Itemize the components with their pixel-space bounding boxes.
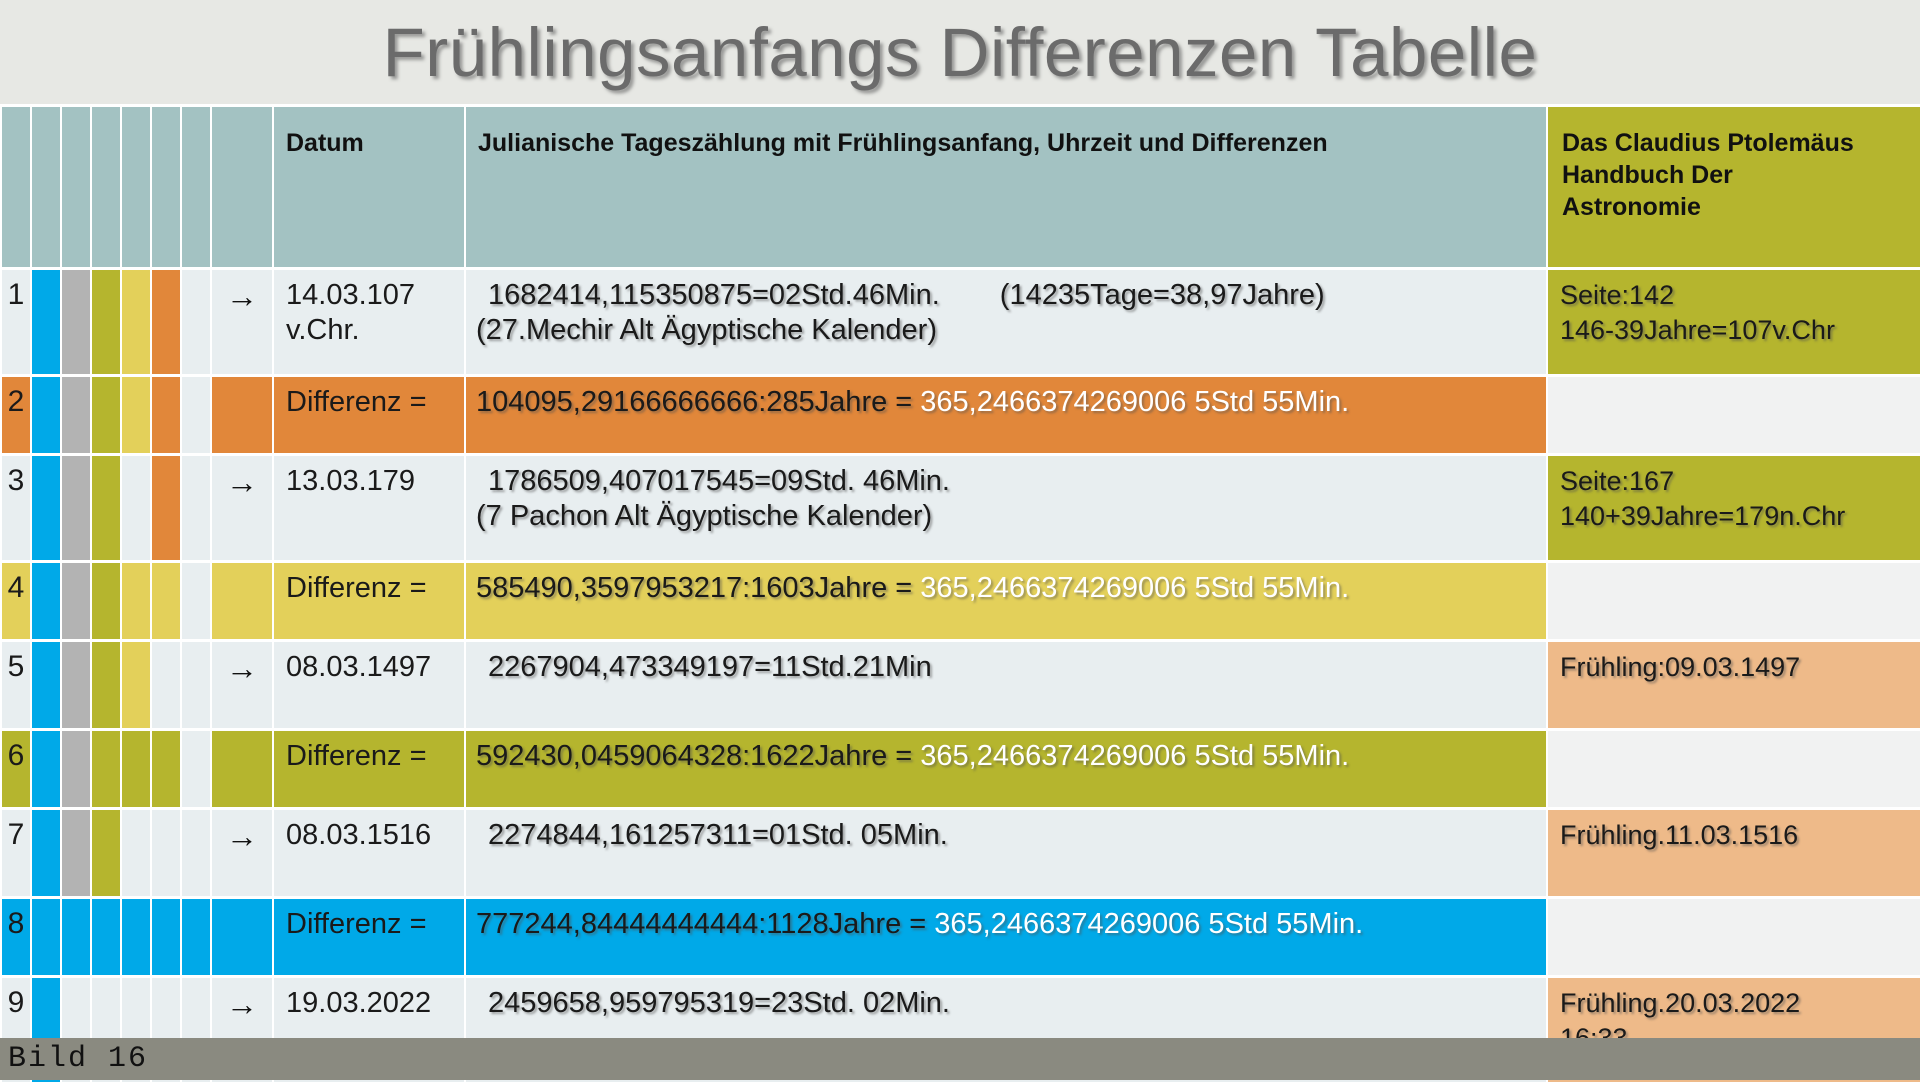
color-swatch-1: [32, 456, 60, 560]
color-swatch-5: [152, 270, 180, 374]
julian-line-1: 2459658,959795319=23Std. 02Min.: [476, 986, 1546, 1021]
table-row[interactable]: 7→08.03.15162274844,161257311=01Std. 05M…: [2, 810, 1920, 896]
color-swatch-2: [62, 810, 90, 896]
row-arrow-icon: [212, 899, 272, 975]
julian-day-number: 1786509,407017545=09Std. 46Min.: [476, 465, 950, 497]
datum-line-2: v.Chr.: [286, 313, 464, 348]
color-swatch-3: [92, 899, 120, 975]
header-main-label: Julianische Tageszählung mit Frühlingsan…: [466, 107, 1546, 159]
julian-line-1: 1682414,115350875=02Std.46Min.(14235Tage…: [476, 278, 1546, 313]
color-swatch-6: [182, 642, 210, 728]
difference-dividend: 104095,29166666666:285Jahre =: [476, 386, 912, 418]
table-row[interactable]: 5→08.03.14972267904,473349197=11Std.21Mi…: [2, 642, 1920, 728]
color-swatch-3: [92, 731, 120, 807]
row-reference: [1548, 377, 1920, 453]
difference-result: 365,2466374269006 5Std 55Min.: [920, 386, 1349, 418]
row-index: 3: [2, 456, 30, 560]
row-main: 2274844,161257311=01Std. 05Min.: [466, 810, 1546, 896]
difference-expression: 592430,0459064328:1622Jahre = 365,246637…: [476, 739, 1546, 774]
difference-expression: 585490,3597953217:1603Jahre = 365,246637…: [476, 571, 1546, 606]
row-main: 592430,0459064328:1622Jahre = 365,246637…: [466, 731, 1546, 807]
color-swatch-1: [32, 377, 60, 453]
datum-line-1: 08.03.1497: [286, 650, 464, 685]
color-swatch-2: [62, 270, 90, 374]
color-swatch-3: [92, 270, 120, 374]
julian-line-2: (27.Mechir Alt Ägyptische Kalender): [476, 313, 1546, 348]
color-swatch-5: [152, 731, 180, 807]
datum-line-1: Differenz =: [286, 739, 464, 774]
color-swatch-1: [32, 899, 60, 975]
row-arrow-icon: →: [212, 642, 272, 728]
color-swatch-6: [182, 810, 210, 896]
color-swatch-4: [122, 899, 150, 975]
color-swatch-4: [122, 270, 150, 374]
color-swatch-3: [92, 377, 120, 453]
julian-day-number: 1682414,115350875=02Std.46Min.: [476, 279, 940, 311]
table-row[interactable]: 8Differenz =777244,84444444444:1128Jahre…: [2, 899, 1920, 975]
row-arrow-icon: →: [212, 810, 272, 896]
color-swatch-2: [62, 899, 90, 975]
color-swatch-3: [92, 563, 120, 639]
row-main: 1682414,115350875=02Std.46Min.(14235Tage…: [466, 270, 1546, 374]
color-swatch-6: [182, 456, 210, 560]
difference-expression: 777244,84444444444:1128Jahre = 365,24663…: [476, 907, 1546, 942]
row-datum: 08.03.1516: [274, 810, 464, 896]
header-main: Julianische Tageszählung mit Frühlingsan…: [466, 107, 1546, 267]
header-swatch-cell-3: [92, 107, 120, 267]
row-arrow-icon: [212, 731, 272, 807]
julian-line-1: 2267904,473349197=11Std.21Min: [476, 650, 1546, 685]
row-arrow-icon: [212, 377, 272, 453]
row-reference: Frühling:09.03.1497: [1548, 642, 1920, 728]
difference-dividend: 585490,3597953217:1603Jahre =: [476, 572, 912, 604]
color-swatch-5: [152, 810, 180, 896]
datum-line-1: 19.03.2022: [286, 986, 464, 1021]
row-main: 585490,3597953217:1603Jahre = 365,246637…: [466, 563, 1546, 639]
table-row[interactable]: 4Differenz =585490,3597953217:1603Jahre …: [2, 563, 1920, 639]
color-swatch-5: [152, 563, 180, 639]
julian-line-1: 1786509,407017545=09Std. 46Min.: [476, 464, 1546, 499]
color-swatch-1: [32, 563, 60, 639]
datum-line-1: Differenz =: [286, 907, 464, 942]
color-swatch-6: [182, 377, 210, 453]
julian-line-1: 2274844,161257311=01Std. 05Min.: [476, 818, 1546, 853]
difference-result: 365,2466374269006 5Std 55Min.: [934, 908, 1363, 940]
difference-result: 365,2466374269006 5Std 55Min.: [920, 572, 1349, 604]
caption-bar: Bild 16: [0, 1038, 1920, 1080]
table-row[interactable]: 3→13.03.1791786509,407017545=09Std. 46Mi…: [2, 456, 1920, 560]
header-datum-label: Datum: [274, 107, 464, 159]
color-swatch-6: [182, 899, 210, 975]
datum-line-1: Differenz =: [286, 385, 464, 420]
row-index: 6: [2, 731, 30, 807]
header-row: Datum Julianische Tageszählung mit Frühl…: [2, 107, 1920, 267]
row-datum: Differenz =: [274, 377, 464, 453]
row-reference: [1548, 731, 1920, 807]
color-swatch-3: [92, 456, 120, 560]
header-datum: Datum: [274, 107, 464, 267]
reference-line-1: Frühling.11.03.1516: [1560, 818, 1920, 853]
row-datum: Differenz =: [274, 731, 464, 807]
julian-day-number: 2267904,473349197=11Std.21Min: [476, 651, 932, 683]
color-swatch-4: [122, 642, 150, 728]
header-arrow-cell: [212, 107, 272, 267]
row-main: 777244,84444444444:1128Jahre = 365,24663…: [466, 899, 1546, 975]
header-swatch-cell-1: [32, 107, 60, 267]
row-reference: [1548, 899, 1920, 975]
row-reference: [1548, 563, 1920, 639]
julian-span-note: (14235Tage=38,97Jahre): [1000, 279, 1325, 311]
difference-dividend: 592430,0459064328:1622Jahre =: [476, 740, 912, 772]
reference-line-1: Seite:142: [1560, 278, 1920, 313]
header-right-label: Das Claudius Ptolemäus Handbuch Der Astr…: [1548, 107, 1920, 223]
reference-line-1: Frühling.20.03.2022: [1560, 986, 1920, 1021]
header-swatch-cell-6: [182, 107, 210, 267]
difference-expression: 104095,29166666666:285Jahre = 365,246637…: [476, 385, 1546, 420]
title-bar: Frühlingsanfangs Differenzen Tabelle: [0, 0, 1920, 104]
datum-line-1: Differenz =: [286, 571, 464, 606]
color-swatch-2: [62, 563, 90, 639]
differences-table: Datum Julianische Tageszählung mit Frühl…: [0, 104, 1920, 1085]
color-swatch-4: [122, 377, 150, 453]
row-index: 8: [2, 899, 30, 975]
row-arrow-icon: →: [212, 270, 272, 374]
header-index-cell: [2, 107, 30, 267]
reference-line-1: Frühling:09.03.1497: [1560, 650, 1920, 685]
difference-dividend: 777244,84444444444:1128Jahre =: [476, 908, 926, 940]
table-container: Datum Julianische Tageszählung mit Frühl…: [0, 104, 1920, 1085]
color-swatch-5: [152, 899, 180, 975]
color-swatch-5: [152, 642, 180, 728]
color-swatch-3: [92, 642, 120, 728]
row-datum: Differenz =: [274, 899, 464, 975]
row-index: 5: [2, 642, 30, 728]
reference-line-1: Seite:167: [1560, 464, 1920, 499]
row-index: 4: [2, 563, 30, 639]
color-swatch-1: [32, 270, 60, 374]
color-swatch-4: [122, 810, 150, 896]
datum-line-1: 08.03.1516: [286, 818, 464, 853]
row-reference: Seite:167140+39Jahre=179n.Chr: [1548, 456, 1920, 560]
datum-line-1: 13.03.179: [286, 464, 464, 499]
color-swatch-5: [152, 377, 180, 453]
table-header: Datum Julianische Tageszählung mit Frühl…: [2, 107, 1920, 267]
row-datum: Differenz =: [274, 563, 464, 639]
header-swatch-cell-4: [122, 107, 150, 267]
julian-day-number: 2274844,161257311=01Std. 05Min.: [476, 819, 948, 851]
row-index: 2: [2, 377, 30, 453]
color-swatch-6: [182, 270, 210, 374]
color-swatch-1: [32, 731, 60, 807]
row-main: 2267904,473349197=11Std.21Min: [466, 642, 1546, 728]
row-main: 104095,29166666666:285Jahre = 365,246637…: [466, 377, 1546, 453]
page-title: Frühlingsanfangs Differenzen Tabelle: [383, 13, 1538, 92]
table-row[interactable]: 6Differenz =592430,0459064328:1622Jahre …: [2, 731, 1920, 807]
color-swatch-2: [62, 731, 90, 807]
header-right-line-1: Das Claudius Ptolemäus: [1562, 127, 1920, 159]
color-swatch-6: [182, 731, 210, 807]
color-swatch-6: [182, 563, 210, 639]
row-arrow-icon: [212, 563, 272, 639]
table-body: 1→14.03.107v.Chr.1682414,115350875=02Std…: [2, 270, 1920, 1082]
row-index: 1: [2, 270, 30, 374]
julian-line-2: (7 Pachon Alt Ägyptische Kalender): [476, 499, 1546, 534]
difference-result: 365,2466374269006 5Std 55Min.: [920, 740, 1349, 772]
row-datum: 08.03.1497: [274, 642, 464, 728]
color-swatch-4: [122, 563, 150, 639]
color-swatch-4: [122, 456, 150, 560]
reference-line-2: 140+39Jahre=179n.Chr: [1560, 499, 1920, 534]
julian-day-number: 2459658,959795319=23Std. 02Min.: [476, 987, 950, 1019]
color-swatch-2: [62, 642, 90, 728]
header-swatch-cell-2: [62, 107, 90, 267]
header-right-line-2: Handbuch Der: [1562, 159, 1920, 191]
reference-line-2: 146-39Jahre=107v.Chr: [1560, 313, 1920, 348]
color-swatch-5: [152, 456, 180, 560]
row-index: 7: [2, 810, 30, 896]
color-swatch-1: [32, 810, 60, 896]
header-swatch-cell-5: [152, 107, 180, 267]
header-right: Das Claudius Ptolemäus Handbuch Der Astr…: [1548, 107, 1920, 267]
row-reference: Frühling.11.03.1516: [1548, 810, 1920, 896]
caption-text: Bild 16: [0, 1042, 148, 1076]
table-row[interactable]: 2Differenz =104095,29166666666:285Jahre …: [2, 377, 1920, 453]
color-swatch-3: [92, 810, 120, 896]
row-reference: Seite:142146-39Jahre=107v.Chr: [1548, 270, 1920, 374]
row-datum: 14.03.107v.Chr.: [274, 270, 464, 374]
table-row[interactable]: 1→14.03.107v.Chr.1682414,115350875=02Std…: [2, 270, 1920, 374]
color-swatch-4: [122, 731, 150, 807]
row-main: 1786509,407017545=09Std. 46Min.(7 Pachon…: [466, 456, 1546, 560]
color-swatch-2: [62, 377, 90, 453]
row-datum: 13.03.179: [274, 456, 464, 560]
color-swatch-2: [62, 456, 90, 560]
row-arrow-icon: →: [212, 456, 272, 560]
header-right-line-3: Astronomie: [1562, 191, 1920, 223]
datum-line-1: 14.03.107: [286, 278, 464, 313]
color-swatch-1: [32, 642, 60, 728]
